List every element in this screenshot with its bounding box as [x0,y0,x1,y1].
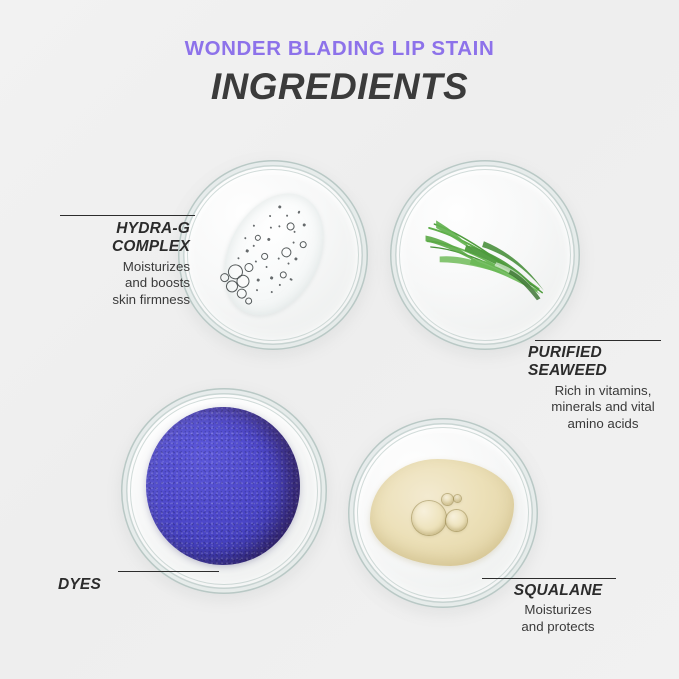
callout-desc-purified-seaweed: Rich in vitamins, minerals and vital ami… [528,383,678,433]
oil-bubble-small [442,494,453,505]
leader-line-dyes [118,571,219,572]
callout-title-hydra-g-complex: HYDRA-G COMPLEX [18,220,190,257]
callout-title-purified-seaweed: PURIFIED SEAWEED [528,344,678,381]
dye-powder [146,407,300,565]
callout-title-dyes: DYES [58,576,218,594]
leader-line-purified-seaweed [535,340,661,341]
powder-grain-texture [146,407,300,565]
page-title: INGREDIENTS [0,68,679,107]
dish-content-oil [358,428,528,598]
callout-desc-line-3: skin firmness [18,292,190,309]
header: WONDER BLADING LIP STAIN INGREDIENTS [0,38,679,106]
callout-title-line-2: COMPLEX [18,238,190,256]
callout-title-line-1: PURIFIED [528,344,678,362]
callout-squalane: SQUALANE Moisturizes and protects [482,582,634,636]
callout-desc-line-2: and boosts [18,275,190,292]
callout-hydra-g-complex: HYDRA-G COMPLEX Moisturizes and boosts s… [18,220,190,309]
callout-title-line-1: SQUALANE [482,582,634,600]
callout-title-line-1: DYES [58,576,218,594]
dish-content-seaweed [400,170,570,340]
oil-bubble-large [412,501,446,535]
leader-line-hydra-g-complex [60,215,195,216]
callout-desc-line-2: and protects [482,619,634,636]
brand-line: WONDER BLADING LIP STAIN [0,38,679,61]
callout-desc-line-1: Moisturizes [482,602,634,619]
dish-content-dye-powder [131,398,317,584]
petri-dish-squalane [348,418,538,608]
callout-title-line-2: SEAWEED [528,362,678,380]
petri-dish-hydra-g-complex [178,160,368,350]
seaweed-illustration [422,207,555,302]
callout-purified-seaweed: PURIFIED SEAWEED Rich in vitamins, miner… [528,344,678,433]
oil-bubble-tiny [454,495,461,502]
callout-desc-line-1: Rich in vitamins, [528,383,678,400]
leader-line-squalane [482,578,616,579]
callout-desc-line-1: Moisturizes [18,259,190,276]
callout-desc-line-3: amino acids [528,416,678,433]
ingredients-infographic: WONDER BLADING LIP STAIN INGREDIENTS [0,0,679,679]
gel-blob [204,177,343,333]
callout-desc-squalane: Moisturizes and protects [482,602,634,636]
oil-bubble-medium [446,510,467,531]
dish-content-gel [188,170,358,340]
callout-dyes: DYES [58,576,218,594]
petri-dish-dyes [121,388,327,594]
callout-title-squalane: SQUALANE [482,582,634,600]
oil-blob [370,459,515,566]
seaweed-icon [422,207,555,302]
callout-desc-hydra-g-complex: Moisturizes and boosts skin firmness [18,259,190,309]
petri-dish-purified-seaweed [390,160,580,350]
callout-desc-line-2: minerals and vital [528,399,678,416]
callout-title-line-1: HYDRA-G [18,220,190,238]
